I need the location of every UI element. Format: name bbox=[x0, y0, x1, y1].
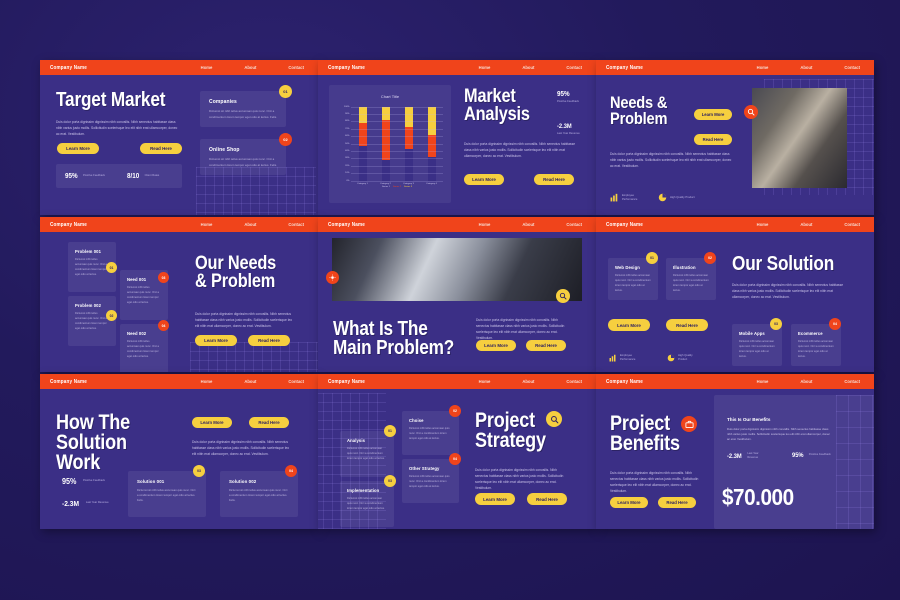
chart-y-tick: 80% bbox=[345, 120, 349, 122]
slide-topbar: Company Name Home About Contact bbox=[40, 217, 318, 232]
card-need-002[interactable]: Need 002 Dictumst nibh tellus accumsan q… bbox=[120, 324, 168, 372]
card-text: Dictumst nibh tellus accumsan quis nunc.… bbox=[798, 340, 834, 360]
stat-value: 95% bbox=[62, 477, 76, 486]
slide-body: Analysis Dictumst nibh tellus accumsan q… bbox=[318, 389, 596, 529]
card-text: Dictumst sit nibh tellus accumsan quis n… bbox=[209, 109, 277, 120]
badge-03: 03 bbox=[158, 272, 169, 283]
nav-item-about[interactable]: About bbox=[244, 222, 256, 227]
nav-item-contact[interactable]: Contact bbox=[566, 222, 582, 227]
page-title: Market Analysis bbox=[464, 88, 547, 124]
stat-value: -2.3M bbox=[557, 123, 591, 130]
card-companies[interactable]: Companies Dictumst sit nibh tellus accum… bbox=[200, 91, 286, 127]
nav-item-home[interactable]: Home bbox=[757, 222, 769, 227]
card-web-design[interactable]: Web Design Dictumst nibh tellus accumsan… bbox=[608, 258, 658, 300]
learn-more-button[interactable]: Learn More bbox=[195, 335, 237, 346]
slide-market-analysis[interactable]: Company Name Home About Contact Chart Ti… bbox=[318, 60, 596, 215]
stat-block-2: 95% Positive Feedback bbox=[792, 452, 831, 459]
stat-label: Positive Feedback bbox=[83, 174, 105, 178]
nav-item-contact[interactable]: Contact bbox=[288, 379, 304, 384]
card-solution-002[interactable]: Solution 002 Dictumst sit nibh tellus ac… bbox=[220, 471, 298, 517]
learn-more-button[interactable]: Learn More bbox=[464, 174, 504, 185]
page-title: Project Strategy bbox=[475, 411, 557, 451]
nav-menu[interactable]: Home About Contact bbox=[201, 379, 304, 384]
slide-topbar: Company Name Home About Contact bbox=[596, 60, 874, 75]
pie-chart-icon bbox=[667, 349, 675, 367]
chart-y-tick: 60% bbox=[345, 135, 349, 137]
stats-bar: 95% Positive Feedback 8/10 Client Rates bbox=[56, 164, 182, 188]
badge-04: 04 bbox=[158, 320, 169, 331]
card-heading: Illustration bbox=[673, 265, 709, 270]
read-here-button[interactable]: Read Here bbox=[526, 340, 566, 351]
body-paragraph: Duis dolor porta dignissim dignissim nib… bbox=[192, 439, 290, 457]
chart-plot-area: 0%10%20%30%40%50%60%70%80%90%100% bbox=[351, 107, 443, 181]
badge-02: 02 bbox=[279, 133, 292, 146]
chart-legend-item: Series 3 bbox=[404, 186, 412, 188]
card-heading: Analysis bbox=[347, 438, 387, 443]
chart-x-tick: Category 2 bbox=[379, 183, 393, 185]
bar-chart-icon bbox=[610, 189, 619, 207]
card-implementation[interactable]: Implementation Dictumst nibh tellus accu… bbox=[340, 481, 394, 527]
body-paragraph: Duis dolor porta dignissim dignissim nib… bbox=[610, 151, 732, 169]
nav-item-home[interactable]: Home bbox=[757, 65, 769, 70]
stat-label: Client Rates bbox=[145, 174, 167, 178]
nav-item-home[interactable]: Home bbox=[201, 222, 213, 227]
card-text: Dictumst nibh tellus accumsan quis nunc.… bbox=[75, 258, 109, 278]
card-text: Dictumst nibh tellus accumsan quis nunc.… bbox=[127, 286, 161, 306]
card-heading: Online Shop bbox=[209, 147, 277, 153]
slide-topbar: Company Name Home About Contact bbox=[596, 217, 874, 232]
nav-menu[interactable]: Home About Contact bbox=[479, 379, 582, 384]
chart-y-tick: 70% bbox=[345, 128, 349, 130]
chart-bar-segment bbox=[405, 107, 413, 127]
card-choise[interactable]: Choise Dictumst nibh tellus accumsan qui… bbox=[402, 411, 459, 455]
page-title: How The Solution Work bbox=[56, 413, 172, 473]
badge-03: 03 bbox=[384, 475, 396, 487]
chart-gridline: 40% bbox=[351, 151, 443, 152]
brand-label: Company Name bbox=[50, 65, 87, 71]
read-here-button[interactable]: Read Here bbox=[534, 174, 574, 185]
body-paragraph: Duis dolor porta dignissim dignissim nib… bbox=[475, 467, 569, 491]
nav-item-contact[interactable]: Contact bbox=[844, 379, 860, 384]
chart-bar-segment bbox=[359, 146, 367, 181]
slide-target-market[interactable]: Company Name Home About Contact Target M… bbox=[40, 60, 318, 215]
slide-body: Project Benefits Duis dolor porta dignis… bbox=[596, 389, 874, 529]
stat-block-1: 95% Positive Feedback bbox=[557, 91, 595, 104]
stat-value: 8/10 bbox=[127, 173, 139, 180]
panel-heading: This Is Our Benefits bbox=[727, 417, 770, 422]
slide-project-benefits[interactable]: Company Name Home About Contact Project … bbox=[596, 374, 874, 529]
badge-01: 01 bbox=[106, 262, 117, 273]
card-analysis[interactable]: Analysis Dictumst nibh tellus accumsan q… bbox=[340, 431, 394, 477]
chart-y-tick: 30% bbox=[345, 157, 349, 159]
stat-label: Last Year Revenue bbox=[557, 132, 595, 136]
slide-topbar: Company Name Home About Contact bbox=[40, 60, 318, 75]
chart-bar bbox=[382, 107, 390, 181]
card-heading: Companies bbox=[209, 99, 277, 105]
slide-our-solution[interactable]: Company Name Home About Contact Web Desi… bbox=[596, 217, 874, 372]
card-heading: Choise bbox=[409, 418, 452, 423]
chart-y-tick: 20% bbox=[345, 165, 349, 167]
nav-menu[interactable]: Home About Contact bbox=[479, 65, 582, 70]
card-other-strategy[interactable]: Other Strategy Dictumst nibh tellus accu… bbox=[402, 459, 459, 503]
chart-y-tick: 90% bbox=[345, 113, 349, 115]
stat-block-2: -2.3M Last Year Revenue bbox=[557, 123, 595, 136]
slide-project-strategy[interactable]: Company Name Home About Contact Analysis… bbox=[318, 374, 596, 529]
learn-more-button[interactable]: Learn More bbox=[610, 497, 648, 508]
card-text: Dictumst sit nibh tellus accumsan quis n… bbox=[229, 488, 289, 503]
nav-item-about[interactable]: About bbox=[522, 222, 534, 227]
page-title: What Is The Main Problem? bbox=[333, 320, 462, 358]
card-text: Dictumst nibh tellus accumsan quis nunc.… bbox=[409, 475, 452, 490]
nav-item-about[interactable]: About bbox=[522, 65, 534, 70]
card-ecommerce[interactable]: Ecommerce Dictumst nibh tellus accumsan … bbox=[791, 324, 841, 366]
slide-body: What Is The Main Problem? Duis dolor por… bbox=[318, 232, 596, 372]
chart-panel[interactable]: Chart Title 0%10%20%30%40%50%60%70%80%90… bbox=[329, 85, 451, 203]
nav-menu[interactable]: Home About Contact bbox=[479, 222, 582, 227]
nav-menu[interactable]: Home About Contact bbox=[757, 222, 860, 227]
nav-item-home[interactable]: Home bbox=[201, 379, 213, 384]
nav-item-contact[interactable]: Contact bbox=[844, 222, 860, 227]
stat-label: Positive Feedback bbox=[809, 453, 831, 457]
nav-menu[interactable]: Home About Contact bbox=[757, 379, 860, 384]
feature-employee-performance: Employee Performance bbox=[609, 349, 644, 367]
card-online-shop[interactable]: Online Shop Dictumst sit nibh tellus acc… bbox=[200, 139, 286, 175]
card-heading: Ecommerce bbox=[798, 331, 834, 336]
badge-04: 04 bbox=[829, 318, 841, 330]
read-here-button[interactable]: Read Here bbox=[249, 417, 289, 428]
nav-item-about[interactable]: About bbox=[244, 379, 256, 384]
card-text: Dictumst nibh tellus accumsan quis nunc.… bbox=[615, 274, 651, 294]
nav-item-about[interactable]: About bbox=[522, 379, 534, 384]
card-heading: Solution 001 bbox=[137, 479, 197, 484]
chart-y-tick: 0% bbox=[346, 180, 349, 182]
nav-item-contact[interactable]: Contact bbox=[566, 65, 582, 70]
badge-02: 02 bbox=[449, 405, 461, 417]
slide-main-problem[interactable]: Company Name Home About Contact bbox=[318, 217, 596, 372]
read-here-button[interactable]: Read Here bbox=[248, 335, 290, 346]
card-text: Dictumst sit nibh tellus accumsan quis n… bbox=[137, 488, 197, 503]
chart-gridline: 70% bbox=[351, 129, 443, 130]
learn-more-button[interactable]: Learn More bbox=[608, 319, 650, 331]
brand-label: Company Name bbox=[606, 65, 643, 71]
stat-value: 95% bbox=[557, 91, 591, 98]
feature-employee-performance: Employee Performance bbox=[610, 189, 648, 207]
badge-03: 03 bbox=[193, 465, 205, 477]
chart-y-tick: 50% bbox=[345, 143, 349, 145]
feature-label: Employee Performance bbox=[622, 194, 648, 203]
card-text: Dictumst sit nibh tellus accumsan quis n… bbox=[209, 157, 277, 168]
badge-02: 02 bbox=[704, 252, 716, 264]
card-text: Dictumst nibh tellus accumsan quis nunc.… bbox=[75, 312, 109, 332]
slide-topbar: Company Name Home About Contact bbox=[318, 374, 596, 389]
nav-item-home[interactable]: Home bbox=[479, 65, 491, 70]
card-illustration[interactable]: Illustration Dictumst nibh tellus accums… bbox=[666, 258, 716, 300]
chart-gridline: 0% bbox=[351, 181, 443, 182]
chart-y-tick: 40% bbox=[345, 150, 349, 152]
read-here-button[interactable]: Read Here bbox=[527, 493, 567, 505]
chart-x-tick: Category 1 bbox=[356, 183, 370, 185]
nav-menu[interactable]: Home About Contact bbox=[201, 65, 304, 70]
slide-needs-problem[interactable]: Company Name Home About Contact Needs & … bbox=[596, 60, 874, 215]
chart-bar bbox=[428, 107, 436, 181]
card-problem-002[interactable]: Problem 002 Dictumst nibh tellus accumsa… bbox=[68, 296, 116, 346]
nav-item-about[interactable]: About bbox=[244, 65, 256, 70]
badge-01: 01 bbox=[279, 85, 292, 98]
stat-value: 95% bbox=[792, 452, 804, 459]
card-heading: Need 001 bbox=[127, 277, 161, 282]
stat-value: -2.3M bbox=[62, 499, 79, 508]
chart-gridline: 50% bbox=[351, 144, 443, 145]
stat-label: Positive Feedback bbox=[557, 100, 595, 104]
chart-gridline: 60% bbox=[351, 136, 443, 137]
badge-04: 04 bbox=[449, 453, 461, 465]
nav-item-home[interactable]: Home bbox=[201, 65, 213, 70]
badge-01: 01 bbox=[646, 252, 658, 264]
chart-gridline: 100% bbox=[351, 107, 443, 108]
slide-topbar: Company Name Home About Contact bbox=[318, 217, 596, 232]
nav-item-home[interactable]: Home bbox=[479, 379, 491, 384]
bar-chart-icon bbox=[609, 349, 617, 367]
page-title: Target Market bbox=[56, 91, 207, 110]
hero-photo bbox=[752, 88, 847, 188]
badge-04: 04 bbox=[285, 465, 297, 477]
nav-item-home[interactable]: Home bbox=[757, 379, 769, 384]
read-here-button[interactable]: Read Here bbox=[658, 497, 696, 508]
slide-body: Chart Title 0%10%20%30%40%50%60%70%80%90… bbox=[318, 75, 596, 215]
slide-topbar: Company Name Home About Contact bbox=[318, 60, 596, 75]
chart-gridline: 80% bbox=[351, 121, 443, 122]
feature-label: Employee Performance bbox=[620, 354, 644, 363]
nav-menu[interactable]: Home About Contact bbox=[757, 65, 860, 70]
chart-gridline: 10% bbox=[351, 173, 443, 174]
hero-photo bbox=[332, 238, 582, 301]
stat-label: Last Year Revenue bbox=[747, 452, 769, 461]
learn-more-button[interactable]: Learn More bbox=[192, 417, 232, 428]
brand-label: Company Name bbox=[606, 379, 643, 385]
feature-label: High Quality Product bbox=[670, 196, 696, 200]
chart-legend-item: Series 2 bbox=[393, 186, 401, 188]
chart-gridline: 30% bbox=[351, 158, 443, 159]
body-paragraph: Duis dolor porta dignissim dignissim nib… bbox=[732, 282, 844, 300]
read-here-button[interactable]: Read Here bbox=[140, 143, 182, 154]
chart-x-tick: Category 4 bbox=[425, 183, 439, 185]
chart-title: Chart Title bbox=[329, 94, 451, 99]
stat-label: Positive Feedback bbox=[83, 479, 107, 483]
card-heading: Implementation bbox=[347, 488, 387, 493]
chart-bar-segment bbox=[382, 120, 390, 161]
card-text: Dictumst nibh tellus accumsan quis nunc.… bbox=[673, 274, 709, 294]
read-here-button[interactable]: Read Here bbox=[694, 134, 732, 145]
badge-02: 02 bbox=[106, 310, 117, 321]
card-text: Dictumst nibh tellus accumsan quis nunc.… bbox=[409, 427, 452, 442]
feature-high-quality-product: High Quality Product bbox=[667, 349, 702, 367]
chart-bar bbox=[405, 107, 413, 181]
body-paragraph: Duis dolor porta dignissim dignissim nib… bbox=[476, 317, 572, 341]
learn-more-button[interactable]: Learn More bbox=[694, 109, 732, 120]
slide-body: Needs & Problem Learn More Read Here Dui… bbox=[596, 75, 874, 215]
chart-bar-segment bbox=[428, 157, 436, 181]
slide-deck-preview: Company Name Home About Contact Target M… bbox=[0, 0, 900, 600]
brand-label: Company Name bbox=[328, 379, 365, 385]
slide-body: Problem 001 Dictumst nibh tellus accumsa… bbox=[40, 232, 318, 372]
stat-block-1: -2.3M Last Year Revenue bbox=[727, 452, 769, 461]
slide-body: Web Design Dictumst nibh tellus accumsan… bbox=[596, 232, 874, 372]
card-text: Dictumst nibh tellus accumsan quis nunc.… bbox=[739, 340, 775, 360]
card-heading: Other Strategy bbox=[409, 466, 452, 471]
slide-body: Target Market Duis dolor porta dignissim… bbox=[40, 75, 318, 215]
card-solution-001[interactable]: Solution 001 Dictumst sit nibh tellus ac… bbox=[128, 471, 206, 517]
slide-our-needs-problem[interactable]: Company Name Home About Contact Problem … bbox=[40, 217, 318, 372]
card-text: Dictumst nibh tellus accumsan quis nunc.… bbox=[127, 340, 161, 360]
card-heading: Solution 002 bbox=[229, 479, 289, 484]
stat-label: Last Year Revenue bbox=[86, 501, 110, 505]
mesh-decoration bbox=[836, 395, 874, 529]
badge-03: 03 bbox=[770, 318, 782, 330]
card-heading: Web Design bbox=[615, 265, 651, 270]
card-text: Dictumst nibh tellus accumsan quis nunc.… bbox=[347, 447, 387, 462]
body-paragraph: Duis dolor porta dignissim dignissim nib… bbox=[195, 311, 295, 329]
stat-block-2: -2.3M Last Year Revenue bbox=[62, 499, 110, 508]
stat-value: 95% bbox=[65, 173, 78, 180]
pie-chart-icon bbox=[658, 189, 667, 207]
card-heading: Need 002 bbox=[127, 331, 161, 336]
slide-topbar: Company Name Home About Contact bbox=[40, 374, 318, 389]
nav-item-contact[interactable]: Contact bbox=[566, 379, 582, 384]
chart-bar-segment bbox=[382, 160, 390, 181]
card-mobile-apps[interactable]: Mobile Apps Dictumst nibh tellus accumsa… bbox=[732, 324, 782, 366]
learn-more-button[interactable]: Learn More bbox=[475, 493, 515, 505]
stat-value: -2.3M bbox=[727, 453, 742, 460]
slide-topbar: Company Name Home About Contact bbox=[596, 374, 874, 389]
nav-item-about[interactable]: About bbox=[800, 379, 812, 384]
card-text: Dictumst nibh tellus accumsan quis nunc.… bbox=[347, 497, 387, 512]
nav-item-contact[interactable]: Contact bbox=[288, 65, 304, 70]
feature-label: High Quality Product bbox=[678, 354, 702, 363]
slide-grid: Company Name Home About Contact Target M… bbox=[40, 60, 876, 538]
learn-more-button[interactable]: Learn More bbox=[476, 340, 516, 351]
brand-label: Company Name bbox=[50, 222, 87, 228]
read-here-button[interactable]: Read Here bbox=[666, 319, 708, 331]
slide-body: How The Solution Work Learn More Read He… bbox=[40, 389, 318, 529]
nav-item-about[interactable]: About bbox=[800, 65, 812, 70]
chart-gridline: 20% bbox=[351, 166, 443, 167]
brand-label: Company Name bbox=[328, 65, 365, 71]
chart-x-tick: Category 3 bbox=[402, 183, 416, 185]
mesh-decoration bbox=[190, 342, 318, 372]
chart-bar bbox=[359, 107, 367, 181]
learn-more-button[interactable]: Learn More bbox=[57, 143, 99, 154]
page-title: Our Needs & Problem bbox=[195, 255, 290, 291]
body-paragraph: Duis dolor porta dignissim dignissim nib… bbox=[610, 470, 702, 494]
chart-y-tick: 10% bbox=[345, 172, 349, 174]
page-title: Needs & Problem bbox=[610, 95, 692, 128]
body-paragraph: Duis dolor porta dignissim dignissim nib… bbox=[464, 141, 582, 159]
nav-menu[interactable]: Home About Contact bbox=[201, 222, 304, 227]
chart-y-tick: 100% bbox=[344, 106, 350, 108]
stat-block-1: 95% Positive Feedback bbox=[62, 477, 107, 486]
search-icon[interactable] bbox=[556, 289, 570, 303]
chart-bars bbox=[351, 107, 443, 181]
chart-legend: Series 1Series 2Series 3 bbox=[351, 186, 443, 188]
settings-icon[interactable] bbox=[326, 271, 339, 284]
nav-item-contact[interactable]: Contact bbox=[288, 222, 304, 227]
search-icon[interactable] bbox=[546, 411, 562, 427]
chart-bar-segment bbox=[405, 127, 413, 149]
feature-high-quality-product: High Quality Product bbox=[658, 189, 696, 207]
nav-item-contact[interactable]: Contact bbox=[844, 65, 860, 70]
chart-bar-segment bbox=[428, 135, 436, 157]
search-icon[interactable] bbox=[744, 105, 758, 119]
card-heading: Problem 002 bbox=[75, 303, 109, 308]
brand-label: Company Name bbox=[50, 379, 87, 385]
chart-gridline: 90% bbox=[351, 114, 443, 115]
body-paragraph: Duis dolor porta dignissim dignissim nib… bbox=[56, 119, 179, 137]
badge-01: 01 bbox=[384, 425, 396, 437]
card-heading: Mobile Apps bbox=[739, 331, 775, 336]
panel-paragraph: Duis dolor porta dignissim dignissim nib… bbox=[727, 427, 832, 443]
card-heading: Problem 001 bbox=[75, 249, 109, 254]
slide-how-solution-work[interactable]: Company Name Home About Contact How The … bbox=[40, 374, 318, 529]
nav-item-home[interactable]: Home bbox=[479, 222, 491, 227]
chart-x-labels: Category 1Category 2Category 3Category 4 bbox=[351, 183, 443, 185]
big-number: $70.000 bbox=[722, 484, 794, 511]
page-title: Our Solution bbox=[732, 255, 848, 274]
chart-legend-item: Series 1 bbox=[382, 186, 390, 188]
brand-label: Company Name bbox=[606, 222, 643, 228]
brand-label: Company Name bbox=[328, 222, 365, 228]
briefcase-icon[interactable] bbox=[681, 416, 697, 432]
nav-item-about[interactable]: About bbox=[800, 222, 812, 227]
